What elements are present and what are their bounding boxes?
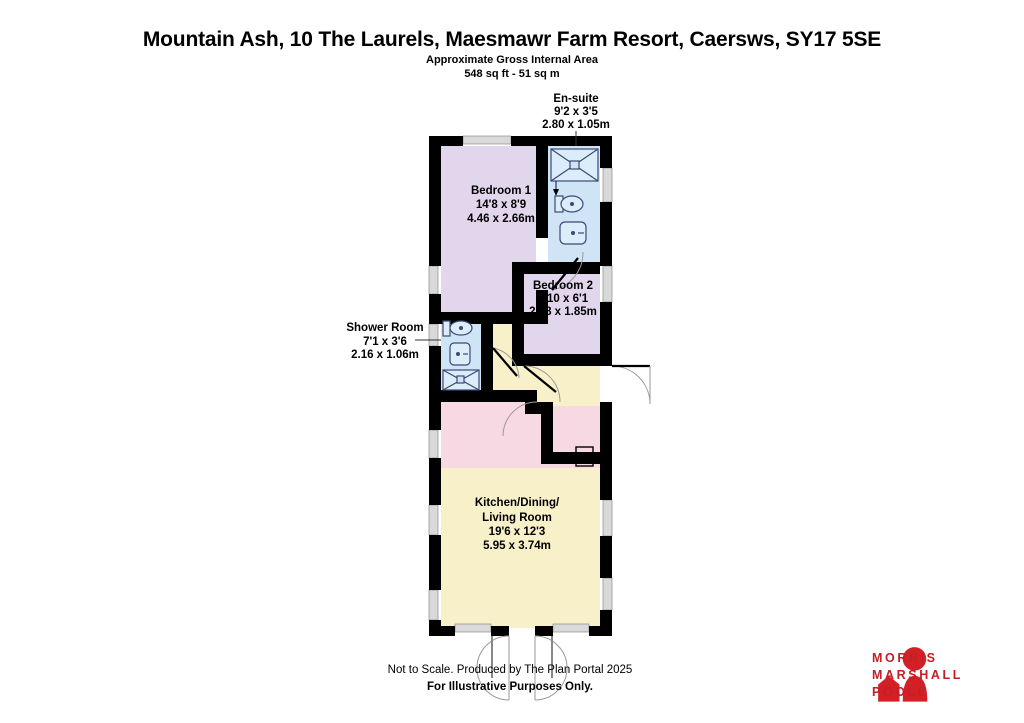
window-bottom-right <box>553 624 589 632</box>
window-left-bedroom1 <box>429 266 438 294</box>
wall-left-c <box>429 346 441 430</box>
wall-bottom-right <box>589 626 612 636</box>
label-bedroom2-imperial: 8'10 x 6'1 <box>538 293 589 305</box>
shower-drain-icon <box>570 161 579 169</box>
window-right-bedroom2 <box>603 266 612 302</box>
floor-plan: B En-suite 9'2 x 3'5 2.80 x 1.05m Bedroo… <box>0 0 1024 723</box>
wall-left-a <box>429 136 441 266</box>
brand-line-3: POOLE <box>872 684 963 701</box>
label-kitchen-metric: 5.95 x 3.74m <box>483 540 551 552</box>
wall-left-d <box>429 458 441 505</box>
label-bedroom1-imperial: 14'8 x 8'9 <box>476 199 526 211</box>
wall-hall-bottom <box>541 452 601 464</box>
window-right-living-2 <box>603 578 612 610</box>
boiler-label: B <box>580 449 589 464</box>
label-bedroom1-name: Bedroom 1 <box>471 185 532 197</box>
wall-bottom-mid-right <box>535 626 553 636</box>
label-kitchen-imperial: 19'6 x 12'3 <box>489 526 546 538</box>
wall-top-right <box>511 136 612 146</box>
brand-line-1: MORRIS <box>872 650 963 667</box>
wall-shower-right <box>481 318 493 400</box>
toilet-pan-center-shower <box>459 326 463 330</box>
basin-plug-ensuite <box>571 231 575 235</box>
wall-shower-bottom <box>441 390 493 402</box>
label-shower-metric: 2.16 x 1.06m <box>351 349 419 361</box>
basin-plug-shower <box>456 352 460 356</box>
window-right-living-1 <box>603 500 612 536</box>
window-top-bedroom1 <box>463 136 511 144</box>
label-ensuite-name: En-suite <box>553 93 598 105</box>
window-left-kitchen <box>429 430 438 458</box>
footer-line-1: Not to Scale. Produced by The Plan Porta… <box>250 664 770 676</box>
wall-bed2-bottom <box>512 354 612 366</box>
wall-right-d <box>600 402 612 500</box>
label-bedroom2-metric: 2.68 x 1.85m <box>529 306 597 318</box>
label-ensuite-imperial: 9'2 x 3'5 <box>554 106 598 118</box>
label-shower-name: Shower Room <box>346 322 423 334</box>
wall-left-e <box>429 535 441 590</box>
window-right-ensuite <box>603 168 612 202</box>
door-swing-entrance <box>612 366 650 404</box>
label-ensuite-metric: 2.80 x 1.05m <box>542 119 610 131</box>
window-left-living-2 <box>429 590 438 620</box>
toilet-cistern-shower-icon <box>443 321 450 336</box>
label-kitchen-name-1: Kitchen/Dining/ <box>475 497 560 509</box>
window-bottom-left <box>455 624 491 632</box>
wall-right-e <box>600 536 612 578</box>
shower-room-drain-icon <box>457 376 464 383</box>
window-left-shower <box>429 324 438 346</box>
label-bedroom1-metric: 4.46 x 2.66m <box>467 213 535 225</box>
label-shower-imperial: 7'1 x 3'6 <box>363 336 407 348</box>
brand-line-2: MARSHALL <box>872 667 963 684</box>
label-kitchen-name-2: Living Room <box>482 512 552 524</box>
brand-name: MORRIS MARSHALL POOLE <box>872 650 963 701</box>
living-upper-patch <box>552 362 600 406</box>
wall-right-b <box>600 202 612 266</box>
window-left-living-1 <box>429 505 438 535</box>
wall-bottom-left <box>429 626 455 636</box>
label-bedroom2-name: Bedroom 2 <box>533 280 593 292</box>
wall-bottom-mid-left <box>491 626 509 636</box>
wall-right-a <box>600 136 612 168</box>
wall-bed1-ensuite <box>536 146 548 238</box>
footer-line-2: For Illustrative Purposes Only. <box>250 681 770 693</box>
toilet-pan-center-ensuite <box>570 202 574 206</box>
wall-left-b <box>429 294 441 324</box>
